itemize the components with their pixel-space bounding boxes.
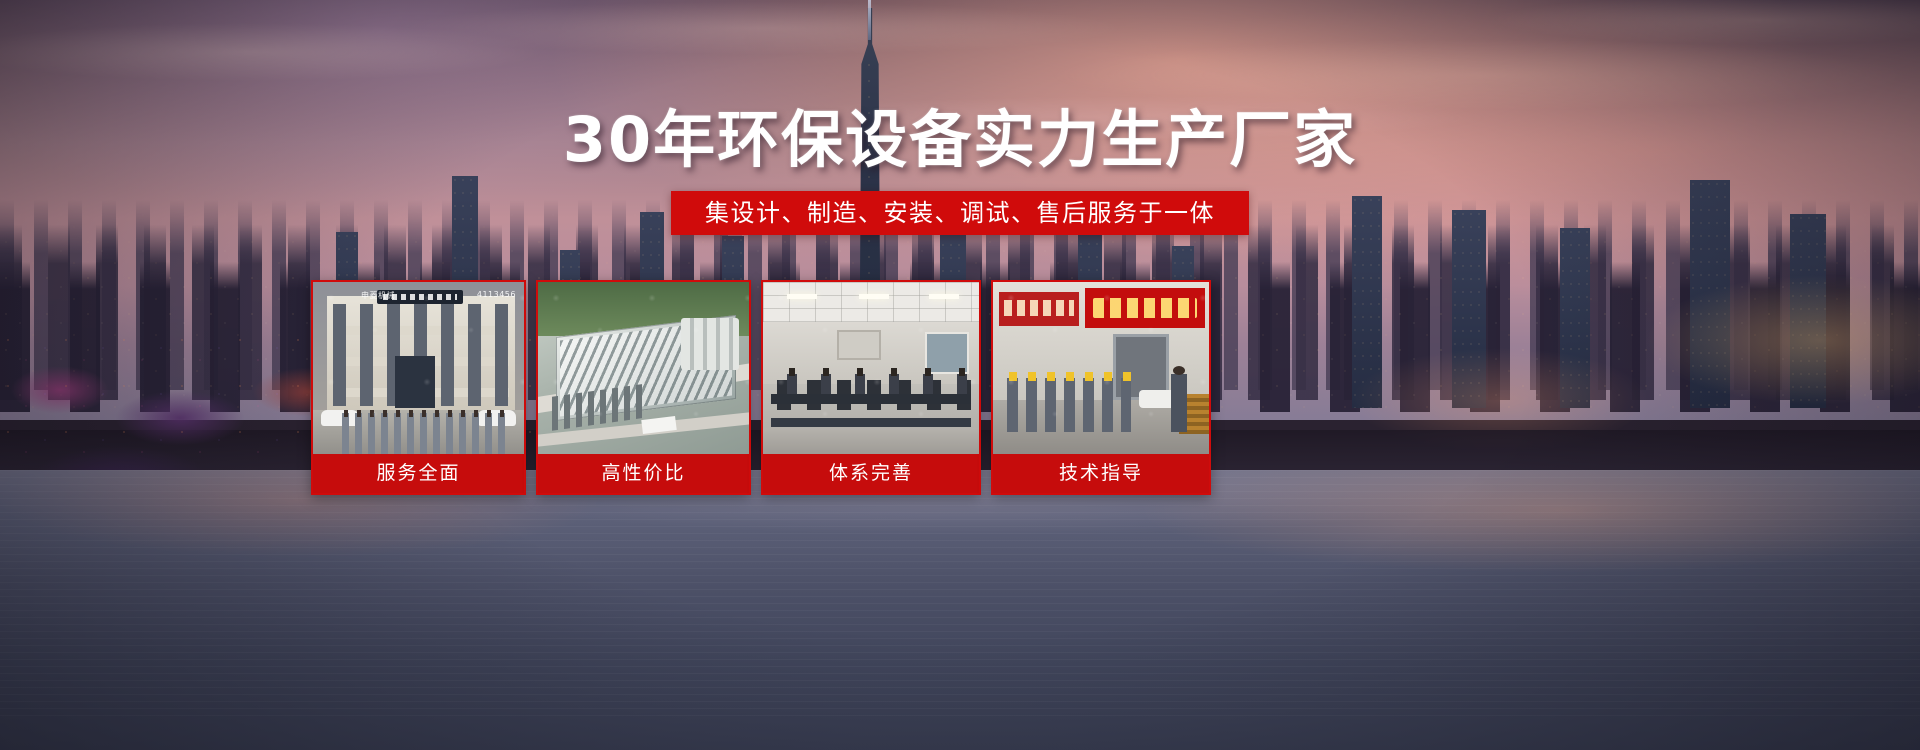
feature-card-1-label: 服务全面 <box>313 454 524 493</box>
feature-card-2-label: 高性价比 <box>538 454 749 493</box>
feature-card-4[interactable]: 技术指导 <box>991 280 1211 495</box>
feature-card-3[interactable]: 体系完善 <box>761 280 981 495</box>
card-1-logo-text: 申菱机械 <box>361 290 395 301</box>
banner-subtitle: 集设计、制造、安装、调试、售后服务于一体 <box>671 191 1249 235</box>
feature-card-4-label: 技术指导 <box>993 454 1209 493</box>
feature-card-4-photo <box>993 282 1209 458</box>
banner-subtitle-wrap: 集设计、制造、安装、调试、售后服务于一体 <box>0 191 1920 235</box>
feature-card-2[interactable]: 高性价比 <box>536 280 751 495</box>
feature-card-1[interactable]: 申菱机械 4113456 服务全面 <box>311 280 526 495</box>
feature-card-list: 申菱机械 4113456 服务全面 <box>311 280 1561 495</box>
card-1-phone-text: 4113456 <box>477 290 516 299</box>
card-4-banner-text <box>1085 288 1205 328</box>
banner-content: 30年环保设备实力生产厂家 集设计、制造、安装、调试、售后服务于一体 申菱机械 <box>0 0 1920 750</box>
feature-card-1-photo: 申菱机械 4113456 <box>313 282 524 458</box>
banner-headline: 30年环保设备实力生产厂家 <box>0 104 1920 176</box>
hero-banner: 30年环保设备实力生产厂家 集设计、制造、安装、调试、售后服务于一体 申菱机械 <box>0 0 1920 750</box>
feature-card-2-photo <box>538 282 749 458</box>
feature-card-3-photo <box>763 282 979 458</box>
feature-card-3-label: 体系完善 <box>763 454 979 493</box>
